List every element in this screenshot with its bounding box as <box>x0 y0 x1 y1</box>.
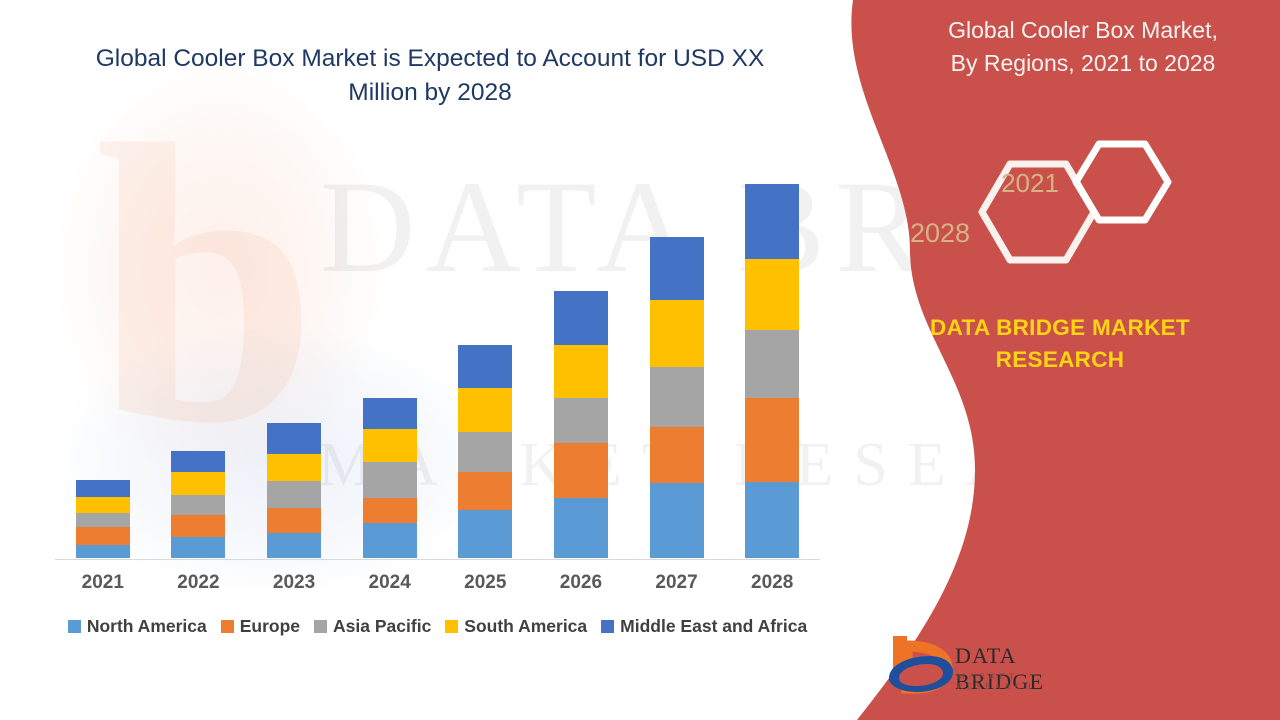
legend-item[interactable]: North America <box>68 616 207 637</box>
x-axis-line <box>55 559 820 560</box>
bar-segment[interactable] <box>267 423 321 454</box>
bar-segment[interactable] <box>76 527 130 545</box>
right-panel-content: Global Cooler Box Market, By Regions, 20… <box>840 0 1280 720</box>
legend-label: North America <box>87 616 207 637</box>
logo-subtitle: MARKET RESEARCH <box>957 671 1100 691</box>
chart-plot-area <box>55 160 820 560</box>
panel-brand-line-2: RESEARCH <box>860 344 1260 376</box>
bar-group-2024[interactable] <box>363 160 417 558</box>
legend-label: Middle East and Africa <box>620 616 807 637</box>
bar-segment[interactable] <box>554 398 608 443</box>
bar-group-2025[interactable] <box>458 160 512 558</box>
bar-segment[interactable] <box>650 367 704 427</box>
bar-segment[interactable] <box>745 482 799 558</box>
logo-b-glyph-icon <box>889 636 953 692</box>
x-axis-label-2027: 2027 <box>650 572 704 594</box>
bar-segment[interactable] <box>267 454 321 481</box>
bar-segment[interactable] <box>171 515 225 537</box>
slide-canvas: b DATA BRIDGE MARKET RESEARCH Global Coo… <box>0 0 1280 720</box>
panel-title: Global Cooler Box Market, By Regions, 20… <box>908 14 1258 79</box>
bar-segment[interactable] <box>363 429 417 462</box>
bar-group-2023[interactable] <box>267 160 321 558</box>
hexagon-2021-outline <box>1076 144 1168 220</box>
legend-swatch-icon <box>445 620 458 633</box>
bar-segment[interactable] <box>171 472 225 495</box>
bar-segment[interactable] <box>458 432 512 472</box>
legend-swatch-icon <box>221 620 234 633</box>
bar-segment[interactable] <box>554 498 608 558</box>
hexagon-2028-label: 2028 <box>895 218 985 249</box>
bar-segment[interactable] <box>267 481 321 508</box>
bar-segment[interactable] <box>76 480 130 497</box>
panel-brand-text: DATA BRIDGE MARKET RESEARCH <box>860 312 1260 376</box>
legend-label: Asia Pacific <box>333 616 431 637</box>
bar-segment[interactable] <box>267 508 321 533</box>
bar-segment[interactable] <box>458 345 512 388</box>
bar-segment[interactable] <box>363 462 417 498</box>
bar-segment[interactable] <box>76 497 130 513</box>
bar-segment[interactable] <box>745 330 799 398</box>
bar-segment[interactable] <box>171 495 225 515</box>
bar-segment[interactable] <box>171 451 225 472</box>
bar-segment[interactable] <box>554 345 608 398</box>
x-axis-label-2022: 2022 <box>171 572 225 594</box>
x-axis-label-2026: 2026 <box>554 572 608 594</box>
legend-label: Europe <box>240 616 300 637</box>
bar-segment[interactable] <box>745 398 799 482</box>
bar-segment[interactable] <box>554 291 608 345</box>
x-axis-label-2028: 2028 <box>745 572 799 594</box>
hexagon-graphic-group <box>950 140 1210 290</box>
x-axis-label-2024: 2024 <box>363 572 417 594</box>
bar-segment[interactable] <box>650 483 704 558</box>
legend-item[interactable]: South America <box>445 616 587 637</box>
x-axis-label-2025: 2025 <box>458 572 512 594</box>
hexagon-2021-label: 2021 <box>990 168 1070 199</box>
bar-group-2026[interactable] <box>554 160 608 558</box>
bar-group-2022[interactable] <box>171 160 225 558</box>
legend-swatch-icon <box>601 620 614 633</box>
bar-segment[interactable] <box>650 300 704 367</box>
bar-segment[interactable] <box>267 533 321 558</box>
bar-segment[interactable] <box>745 259 799 330</box>
bar-group-2028[interactable] <box>745 160 799 558</box>
legend-item[interactable]: Europe <box>221 616 300 637</box>
x-axis-label-2021: 2021 <box>76 572 130 594</box>
x-axis-tick-labels: 20212022202320242025202620272028 <box>55 572 820 594</box>
panel-title-line-2: By Regions, 2021 to 2028 <box>908 47 1258 80</box>
bar-segment[interactable] <box>171 537 225 558</box>
bar-group-2027[interactable] <box>650 160 704 558</box>
bar-segment[interactable] <box>76 513 130 527</box>
bar-segment[interactable] <box>363 398 417 429</box>
bar-segment[interactable] <box>458 510 512 558</box>
bar-segment[interactable] <box>650 237 704 300</box>
bar-series-container <box>55 160 820 558</box>
chart-title: Global Cooler Box Market is Expected to … <box>60 42 800 110</box>
legend-item[interactable]: Asia Pacific <box>314 616 431 637</box>
legend-label: South America <box>464 616 587 637</box>
legend-item[interactable]: Middle East and Africa <box>601 616 807 637</box>
bar-segment[interactable] <box>554 443 608 498</box>
bar-segment[interactable] <box>458 472 512 510</box>
bar-segment[interactable] <box>650 427 704 483</box>
bar-segment[interactable] <box>458 388 512 432</box>
panel-brand-line-1: DATA BRIDGE MARKET <box>860 312 1260 344</box>
bar-segment[interactable] <box>363 523 417 558</box>
bar-segment[interactable] <box>76 545 130 558</box>
x-axis-label-2023: 2023 <box>267 572 321 594</box>
chart-legend: North AmericaEuropeAsia PacificSouth Ame… <box>55 616 820 637</box>
bar-segment[interactable] <box>745 184 799 259</box>
legend-swatch-icon <box>68 620 81 633</box>
data-bridge-logo: DATA BRIDGE MARKET RESEARCH <box>885 630 1100 702</box>
legend-swatch-icon <box>314 620 327 633</box>
bar-segment[interactable] <box>363 498 417 523</box>
panel-title-line-1: Global Cooler Box Market, <box>908 14 1258 47</box>
bar-group-2021[interactable] <box>76 160 130 558</box>
